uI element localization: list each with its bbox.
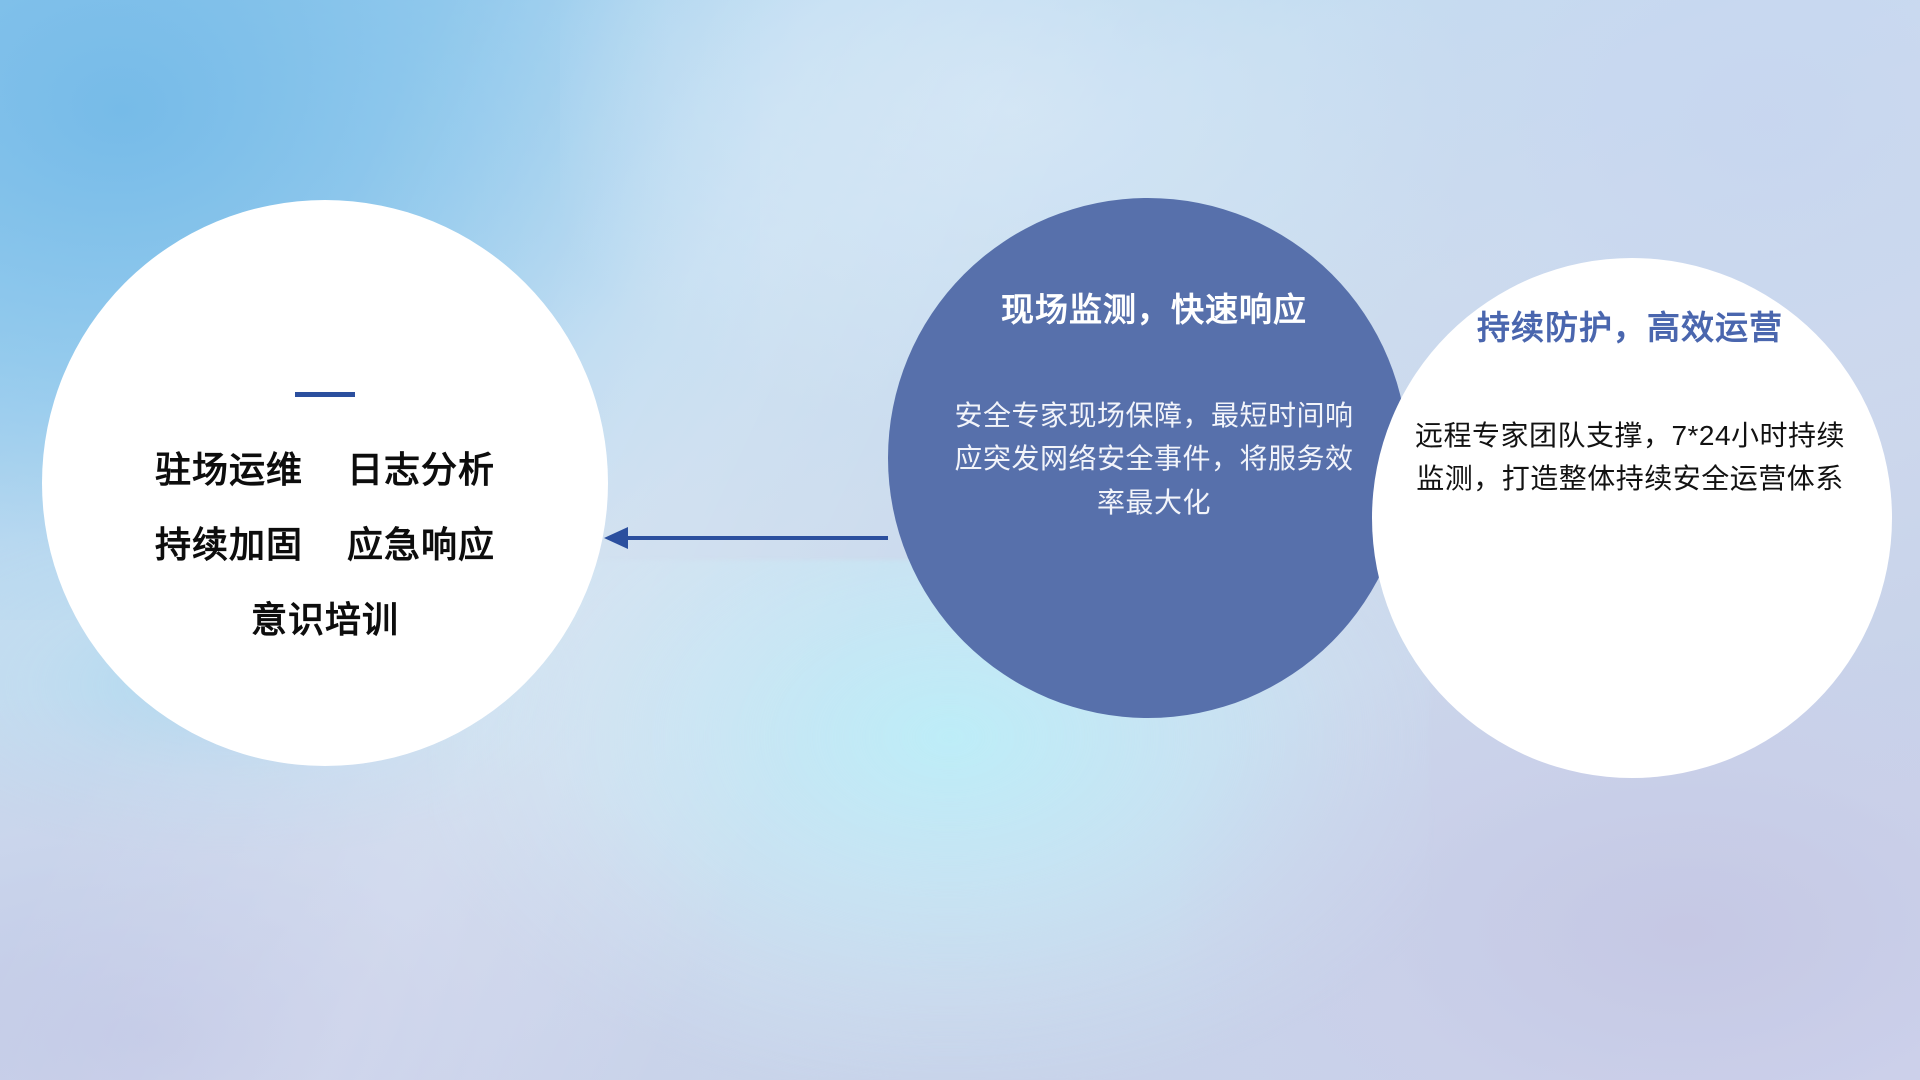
node-onsite-monitoring-body: 安全专家现场保障，最短时间响应突发网络安全事件，将服务效率最大化 (932, 394, 1376, 525)
horizontal-dash-icon (295, 392, 355, 397)
node-capabilities-content: 驻场运维 日志分析 持续加固 应急响应 意识培训 (42, 200, 608, 766)
capability-line-3: 意识培训 (251, 601, 399, 639)
slide-canvas: 驻场运维 日志分析 持续加固 应急响应 意识培训 现场监测，快速响应 安全专家现… (0, 0, 1920, 1080)
flow-arrow-icon (600, 520, 888, 556)
node-continuous-protection-content: 持续防护，高效运营 远程专家团队支撑，7*24小时持续监测，打造整体持续安全运营… (1372, 258, 1892, 778)
capability-line-1: 驻场运维 日志分析 (155, 451, 495, 489)
capability-line-2: 持续加固 应急响应 (155, 526, 495, 564)
node-continuous-protection-body: 远程专家团队支撑，7*24小时持续监测，打造整体持续安全运营体系 (1408, 414, 1852, 501)
node-onsite-monitoring-title: 现场监测，快速响应 (932, 290, 1376, 330)
node-continuous-protection-title: 持续防护，高效运营 (1408, 308, 1852, 348)
node-onsite-monitoring-content: 现场监测，快速响应 安全专家现场保障，最短时间响应突发网络安全事件，将服务效率最… (888, 198, 1408, 718)
